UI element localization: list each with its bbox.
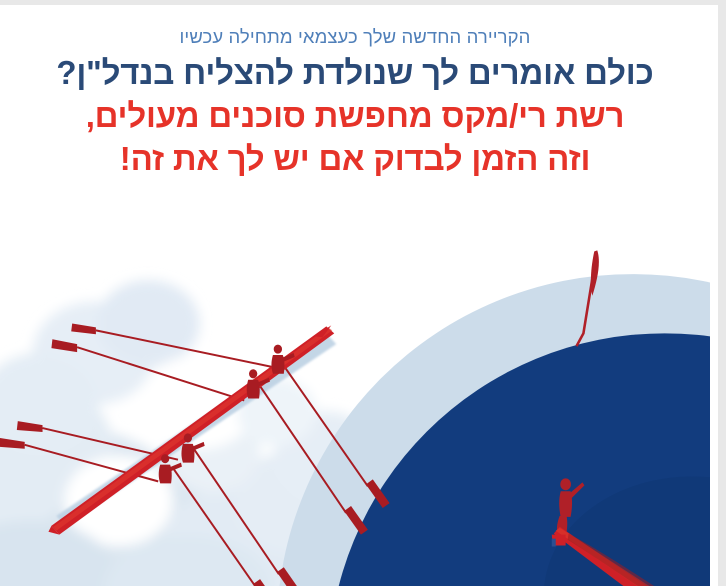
rowing-illustration <box>0 205 710 586</box>
banner-root: הקריירה החדשה שלך כעצמאי מתחילה עכשיו כו… <box>0 0 726 586</box>
banner-subtitle: הקריירה החדשה שלך כעצמאי מתחילה עכשיו <box>0 25 710 48</box>
headline-line-2: רשת רי/מקס מחפשת סוכנים מעולים, <box>0 95 710 138</box>
headline-line-3: וזה הזמן לבדוק אם יש לך את זה! <box>0 138 710 181</box>
headline-text-block: הקריירה החדשה שלך כעצמאי מתחילה עכשיו כו… <box>0 25 710 181</box>
headline-line-1: כולם אומרים לך שנולדת להצליח בנדל"ן? <box>0 52 710 95</box>
rowing-illustration-svg <box>0 205 710 586</box>
